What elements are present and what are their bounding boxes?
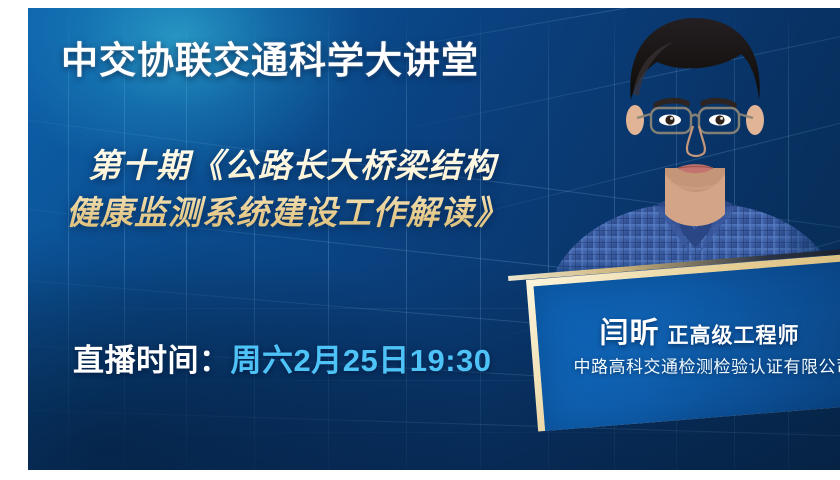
livestream-poster: 中交协联交通科学大讲堂 第十期《公路长大桥梁结构 健康监测系统建设工作解读》 直… — [0, 0, 840, 480]
subtitle-line-2: 健康监测系统建设工作解读》 — [66, 189, 586, 236]
speaker-name: 闫昕 — [600, 317, 660, 349]
speaker-name-row: 闫昕正高级工程师 — [600, 309, 800, 351]
speaker-card: 闫昕正高级工程师 中路高科交通检测检验认证有限公司 — [526, 251, 840, 431]
speaker-organization: 中路高科交通检测检验认证有限公司 — [534, 352, 840, 377]
broadcast-time: 直播时间：周六2月25日19:30 — [73, 335, 492, 380]
session-subtitle: 第十期《公路长大桥梁结构 健康监测系统建设工作解读》 — [66, 142, 586, 236]
subtitle-line-1: 第十期《公路长大桥梁结构 — [66, 142, 586, 189]
broadcast-time-value: 周六2月25日19:30 — [231, 343, 492, 378]
broadcast-time-label: 直播时间： — [73, 343, 231, 378]
speaker-role: 正高级工程师 — [668, 324, 800, 347]
card-body: 闫昕正高级工程师 中路高科交通检测检验认证有限公司 — [534, 258, 840, 431]
poster-stage: 中交协联交通科学大讲堂 第十期《公路长大桥梁结构 健康监测系统建设工作解读》 直… — [28, 8, 840, 470]
page-title: 中交协联交通科学大讲堂 — [61, 30, 479, 84]
